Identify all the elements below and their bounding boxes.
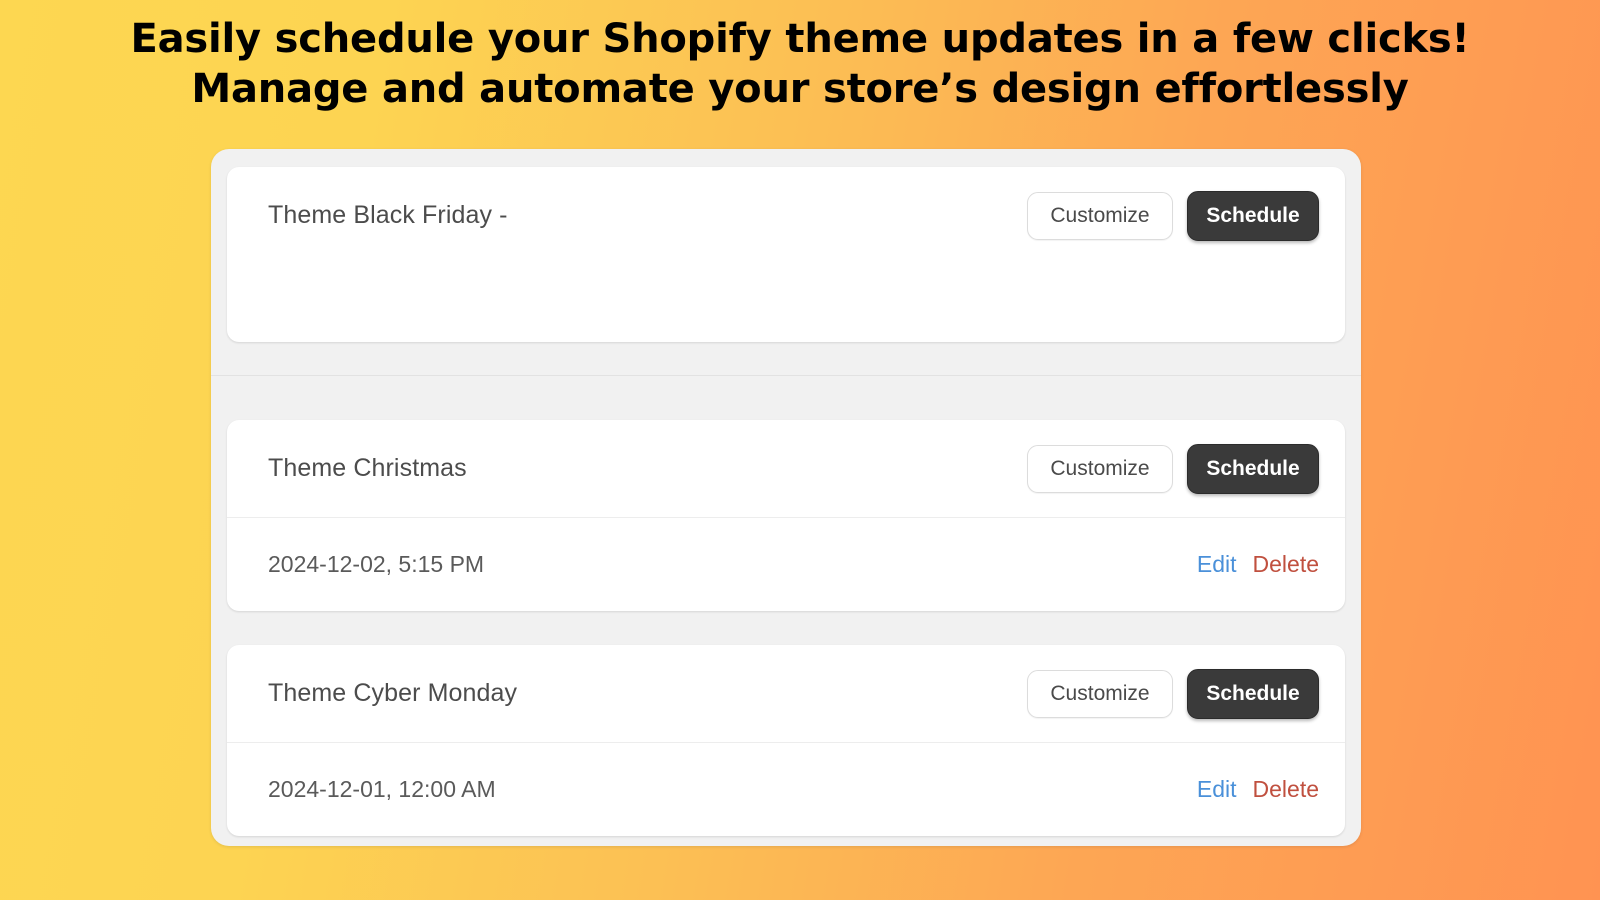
theme-card-header: Theme Black Friday - Customize Schedule [227,167,1345,264]
theme-card-empty-area [227,264,1345,342]
theme-card-actions: Customize Schedule [1027,669,1319,719]
theme-schedule-row: 2024-12-01, 12:00 AM Edit Delete [227,743,1345,835]
headline-line-1: Easily schedule your Shopify theme updat… [130,16,1469,62]
theme-card[interactable]: Theme Cyber Monday Customize Schedule 20… [227,645,1345,836]
theme-card-header: Theme Cyber Monday Customize Schedule [227,645,1345,742]
theme-card-header: Theme Christmas Customize Schedule [227,420,1345,517]
schedule-row-actions: Edit Delete [1197,551,1319,578]
promo-banner: Easily schedule your Shopify theme updat… [0,0,1600,900]
theme-card[interactable]: Theme Black Friday - Customize Schedule [227,167,1345,342]
scheduled-datetime: 2024-12-02, 5:15 PM [268,551,1197,578]
schedule-button[interactable]: Schedule [1187,444,1319,494]
edit-link[interactable]: Edit [1197,551,1237,578]
schedule-button[interactable]: Schedule [1187,191,1319,241]
theme-title: Theme Black Friday - [268,201,1027,230]
delete-link[interactable]: Delete [1253,551,1319,578]
delete-link[interactable]: Delete [1253,776,1319,803]
edit-link[interactable]: Edit [1197,776,1237,803]
theme-card[interactable]: Theme Christmas Customize Schedule 2024-… [227,420,1345,611]
theme-card-actions: Customize Schedule [1027,191,1319,241]
headline-line-2: Manage and automate your store’s design … [0,64,1600,114]
page-title: Easily schedule your Shopify theme updat… [0,14,1600,114]
theme-title: Theme Christmas [268,454,1027,483]
customize-button[interactable]: Customize [1027,670,1173,718]
theme-card-actions: Customize Schedule [1027,444,1319,494]
theme-list-panel: Theme Black Friday - Customize Schedule … [211,149,1361,846]
customize-button[interactable]: Customize [1027,445,1173,493]
theme-schedule-row: 2024-12-02, 5:15 PM Edit Delete [227,518,1345,610]
schedule-button[interactable]: Schedule [1187,669,1319,719]
panel-section-divider [211,375,1361,376]
theme-title: Theme Cyber Monday [268,679,1027,708]
scheduled-datetime: 2024-12-01, 12:00 AM [268,776,1197,803]
customize-button[interactable]: Customize [1027,192,1173,240]
schedule-row-actions: Edit Delete [1197,776,1319,803]
